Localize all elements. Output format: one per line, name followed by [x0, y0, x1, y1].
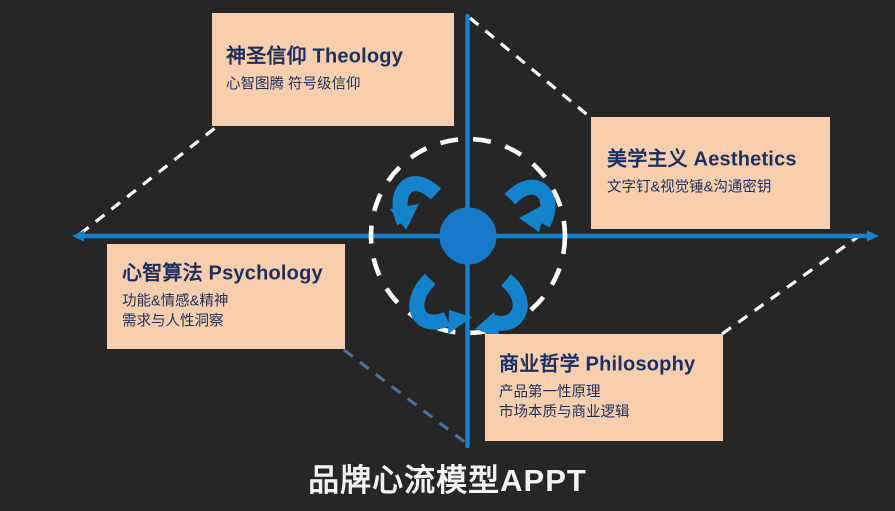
pinwheel-arrows — [400, 184, 548, 324]
arrowhead-up-icon — [390, 204, 419, 230]
arrow-upper-right-icon — [510, 187, 548, 224]
card-aesthetics-subtitle: 文字钉&视觉锤&沟通密钥 — [607, 178, 812, 199]
axis-horizontal-right-arrowhead — [867, 231, 879, 242]
connector-aesthetics — [470, 18, 590, 117]
card-aesthetics-title: 美学主义 Aesthetics — [607, 148, 812, 173]
pinwheel-arrowheads — [390, 203, 547, 338]
card-theology[interactable]: 神圣信仰 Theology 心智图腾 符号级信仰 — [212, 13, 454, 126]
arrow-upper-left-icon — [400, 184, 436, 222]
axis-horizontal-left-arrowhead — [72, 231, 84, 242]
card-psychology[interactable]: 心智算法 Psychology 功能&情感&精神 需求与人性洞察 — [107, 244, 345, 349]
card-psychology-content: 心智算法 Psychology 功能&情感&精神 需求与人性洞察 — [107, 261, 345, 332]
card-theology-content: 神圣信仰 Theology 心智图腾 符号级信仰 — [212, 44, 454, 95]
card-theology-title: 神圣信仰 Theology — [226, 44, 436, 69]
card-psychology-subtitle: 功能&情感&精神 需求与人性洞察 — [122, 291, 327, 332]
arrowhead-right-icon — [519, 203, 547, 232]
arrow-lower-left-icon — [417, 279, 447, 322]
card-philosophy-subtitle: 产品第一性原理 市场本质与商业逻辑 — [499, 382, 705, 423]
dashed-ring — [371, 139, 565, 333]
card-psychology-title: 心智算法 Psychology — [122, 261, 327, 286]
center-hub-icon — [440, 208, 497, 265]
connector-psychology — [344, 350, 466, 443]
card-aesthetics-content: 美学主义 Aesthetics 文字钉&视觉锤&沟通密钥 — [591, 148, 830, 199]
arrow-lower-right-icon — [490, 280, 520, 323]
connector-theology — [80, 128, 215, 234]
card-aesthetics[interactable]: 美学主义 Aesthetics 文字钉&视觉锤&沟通密钥 — [591, 117, 830, 229]
card-philosophy-content: 商业哲学 Philosophy 产品第一性原理 市场本质与商业逻辑 — [485, 352, 723, 423]
arrowhead-down-icon — [448, 310, 472, 334]
page-title: 品牌心流模型APPT — [0, 455, 895, 500]
card-philosophy[interactable]: 商业哲学 Philosophy 产品第一性原理 市场本质与商业逻辑 — [485, 334, 723, 441]
card-theology-subtitle: 心智图腾 符号级信仰 — [226, 74, 436, 95]
card-philosophy-title: 商业哲学 Philosophy — [499, 352, 705, 377]
connector-philosophy — [722, 231, 866, 334]
diagram-canvas: 神圣信仰 Theology 心智图腾 符号级信仰 美学主义 Aesthetics… — [0, 0, 895, 511]
